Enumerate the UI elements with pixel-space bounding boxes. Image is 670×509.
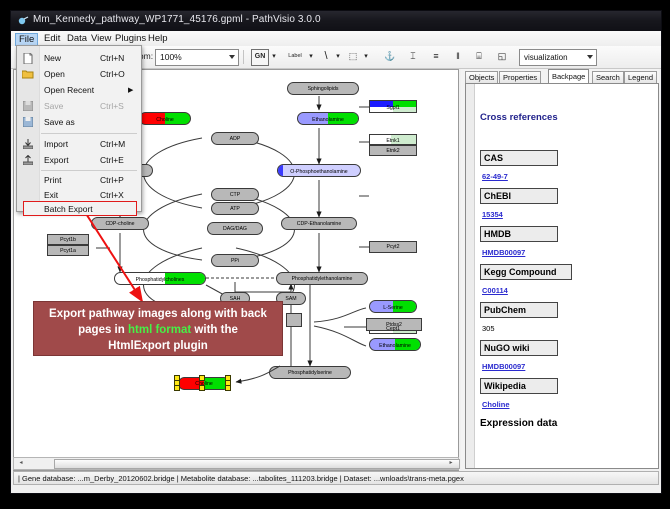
section-title: ChEBI <box>484 191 511 201</box>
gene-sgpl1[interactable]: Sgpl1 <box>369 100 417 113</box>
node-cdp-choline[interactable]: CDP-choline <box>91 217 149 230</box>
scroll-right-arrow[interactable]: ▸ <box>445 459 457 467</box>
tab-properties[interactable]: Properties <box>499 71 541 83</box>
menu-item-label: Save <box>44 101 63 111</box>
shape-dropdown-icon[interactable]: ▾ <box>362 49 370 64</box>
file-menu-item-import[interactable]: Import Ctrl+M <box>18 136 140 152</box>
anchor-tool[interactable]: ⚓ <box>383 49 397 64</box>
gene-label: Etnk2 <box>386 148 399 154</box>
section-nugo: NuGO wiki <box>480 340 558 356</box>
order-tool[interactable]: ◱ <box>495 49 509 64</box>
node-label: ADP <box>230 136 241 142</box>
node-label: Sphingolipids <box>308 86 339 92</box>
datanode-dropdown-icon[interactable]: ▾ <box>270 49 278 64</box>
file-menu-item-new[interactable]: New Ctrl+N <box>18 50 140 66</box>
gene-label: Ptdss2 <box>386 322 402 328</box>
menu-item-shortcut: Ctrl+E <box>100 155 124 165</box>
line-dropdown-icon[interactable]: ▾ <box>334 49 342 64</box>
node-choline[interactable]: Choline <box>139 112 191 125</box>
callout-annotation: Export pathway images along with back pa… <box>33 301 283 356</box>
section-title: Wikipedia <box>484 381 526 391</box>
common-size-tool[interactable]: ⌸ <box>472 49 486 64</box>
pathvisio-icon <box>17 15 29 27</box>
side-panel-tabs: Objects Properties Backpage Search Legen… <box>465 69 659 83</box>
menu-item-label: Import <box>44 139 68 149</box>
value-pubchem: 305 <box>482 324 495 333</box>
expression-data-heading: Expression data <box>480 418 557 429</box>
node-label: CDP-choline <box>105 221 134 227</box>
file-menu-item-print[interactable]: Print Ctrl+P <box>18 172 140 188</box>
pemt-shape <box>286 313 302 327</box>
screenshot-root: Mm_Kennedy_pathway_WP1771_45176.gpml - P… <box>0 0 670 509</box>
gene-pcyt1b[interactable]: Pcyt1b <box>47 234 89 245</box>
node-atp[interactable]: ATP <box>211 202 259 215</box>
callout-line-2-green: html format <box>128 324 191 336</box>
section-kegg: Kegg Compound <box>480 264 572 280</box>
menu-item-shortcut: Ctrl+S <box>100 101 124 111</box>
scroll-left-arrow[interactable]: ◂ <box>15 459 27 467</box>
datanode-tool[interactable]: GN <box>251 49 269 66</box>
callout-line-1: Export pathway images along with back <box>49 308 267 320</box>
menu-item-shortcut: Ctrl+N <box>100 53 124 63</box>
resize-handle[interactable] <box>199 375 205 381</box>
file-menu-item-open-recent[interactable]: Open Recent ▶ <box>18 82 140 98</box>
align-stack-tool[interactable]: ≡ <box>429 49 443 64</box>
gene-pcyt2[interactable]: Pcyt2 <box>369 241 417 253</box>
menu-item-shortcut: Ctrl+M <box>100 139 125 149</box>
node-o-phosphoethanolamine[interactable]: O-Phosphoethanolamine <box>277 164 361 177</box>
file-menu-dropdown: New Ctrl+N Open Ctrl+O Open Recent ▶ Sav… <box>16 45 142 212</box>
node-label: ATP <box>230 206 240 212</box>
label-tool[interactable]: Label <box>283 49 307 64</box>
menu-separator <box>41 133 137 134</box>
resize-handle[interactable] <box>174 385 180 391</box>
node-ethanolamine-bottom[interactable]: Ethanolamine <box>369 338 421 351</box>
tab-search[interactable]: Search <box>592 71 624 83</box>
menu-item-label: Open <box>44 69 65 79</box>
zoom-combobox[interactable]: 100% <box>155 49 239 66</box>
import-icon <box>23 139 33 149</box>
align-left-tool[interactable]: ⌶ <box>406 49 420 64</box>
menu-item-shortcut: Ctrl+O <box>100 69 125 79</box>
node-phosphatidylcholines[interactable]: Phosphatidylcholines <box>114 272 206 285</box>
link-kegg[interactable]: C00114 <box>482 286 508 295</box>
file-menu-item-batch-export[interactable]: Batch Export <box>23 201 137 216</box>
save-as-icon <box>23 117 33 127</box>
node-choline-selected[interactable]: Choline <box>174 375 232 389</box>
callout-line-3: HtmlExport plugin <box>108 340 208 352</box>
node-label: CDP-Ethanolamine <box>297 221 341 227</box>
file-menu-item-export[interactable]: Export Ctrl+E <box>18 152 140 168</box>
tab-objects[interactable]: Objects <box>465 71 498 83</box>
node-label: Phosphatidylethanolamine <box>292 276 353 282</box>
menu-item-label: Export <box>44 155 69 165</box>
section-hmdb: HMDB <box>480 226 558 242</box>
gene-etnk2[interactable]: Etnk2 <box>369 145 417 156</box>
menu-item-shortcut: Ctrl+X <box>100 190 124 200</box>
distribute-tool[interactable]: ‖ <box>451 49 465 64</box>
chevron-down-icon <box>229 55 235 59</box>
file-menu-item-save: Save Ctrl+S <box>18 98 140 114</box>
section-title: NuGO wiki <box>484 343 530 353</box>
label-dropdown-icon[interactable]: ▾ <box>307 49 315 64</box>
toolbar-separator <box>243 50 244 64</box>
node-label: PPi <box>231 258 239 264</box>
menu-item-label: Exit <box>44 190 58 200</box>
new-file-icon <box>23 53 33 64</box>
menu-item-label: Batch Export <box>44 204 93 214</box>
link-hmdb[interactable]: HMDB00097 <box>482 248 525 257</box>
save-icon <box>23 101 33 111</box>
section-pubchem: PubChem <box>480 302 558 318</box>
chevron-down-icon <box>587 55 593 59</box>
node-label: O-Phosphoethanolamine <box>278 169 360 175</box>
resize-handle[interactable] <box>225 385 231 391</box>
link-chebi[interactable]: 15354 <box>482 210 503 219</box>
node-phosphatidylserine[interactable]: Phosphatidylserine <box>269 366 351 379</box>
pathvisio-window: Mm_Kennedy_pathway_WP1771_45176.gpml - P… <box>10 10 662 494</box>
gene-label: Pcyt2 <box>387 244 400 250</box>
menu-item-label: New <box>44 53 61 63</box>
menu-item-shortcut: Ctrl+P <box>100 175 124 185</box>
node-sphingolipids[interactable]: Sphingolipids <box>287 82 359 95</box>
menu-item-label: Save as <box>44 117 75 127</box>
menu-item-label: Print <box>44 175 61 185</box>
node-phosphatidylethanolamine[interactable]: Phosphatidylethanolamine <box>276 272 368 285</box>
title-bar: Mm_Kennedy_pathway_WP1771_45176.gpml - P… <box>11 11 661 32</box>
node-label: CTP <box>230 192 240 198</box>
section-title: PubChem <box>484 305 526 315</box>
link-cas[interactable]: 62-49-7 <box>482 172 508 181</box>
node-adp[interactable]: ADP <box>211 132 259 145</box>
node-label: DAG/DAG <box>223 226 247 232</box>
visualization-value: visualization <box>524 53 568 62</box>
node-ethanolamine-top[interactable]: Ethanolamine <box>297 112 359 125</box>
side-panel: Objects Properties Backpage Search Legen… <box>461 69 659 469</box>
backpage-scrollbar[interactable] <box>466 84 475 468</box>
callout-line-2b: with the <box>191 324 238 336</box>
callout-line-2a: pages in <box>78 324 128 336</box>
folder-open-icon <box>22 70 34 79</box>
gene-label: Pcyt1a <box>60 248 76 254</box>
section-title: Kegg Compound <box>484 267 557 277</box>
link-nugo[interactable]: HMDB00097 <box>482 362 525 371</box>
node-l-serine[interactable]: L-Serine <box>369 300 417 313</box>
node-label: SAM <box>285 296 296 302</box>
resize-handle[interactable] <box>199 385 205 391</box>
tab-legend[interactable]: Legend <box>624 71 657 83</box>
section-wikipedia: Wikipedia <box>480 378 558 394</box>
menu-separator <box>41 170 137 171</box>
gene-label: Pcyt1b <box>60 237 76 243</box>
gene-etnk1[interactable]: Etnk1 <box>369 134 417 145</box>
file-menu-item-open[interactable]: Open Ctrl+O <box>18 66 140 82</box>
scroll-thumb[interactable] <box>54 459 460 469</box>
file-menu-item-save-as[interactable]: Save as <box>18 114 140 130</box>
node-cdp-ethanolamine[interactable]: CDP-Ethanolamine <box>281 217 357 230</box>
backpage-content[interactable]: Cross references CAS 62-49-7 ChEBI 15354… <box>465 83 659 469</box>
node-dag[interactable]: DAG/DAG <box>207 222 263 235</box>
window-title: Mm_Kennedy_pathway_WP1771_45176.gpml - P… <box>33 14 321 25</box>
node-label: Phosphatidylserine <box>288 370 332 376</box>
node-ctp[interactable]: CTP <box>211 188 259 201</box>
section-chebi: ChEBI <box>480 188 558 204</box>
section-title: HMDB <box>484 229 511 239</box>
export-icon <box>23 155 33 165</box>
gene-ptdss2[interactable]: Ptdss2 <box>366 318 422 331</box>
menu-item-label: Open Recent <box>44 85 94 95</box>
zoom-value: 100% <box>160 52 182 62</box>
gene-pcyt1a[interactable]: Pcyt1a <box>47 245 89 256</box>
status-bar: | Gene database: ...m_Derby_20120602.bri… <box>13 471 659 485</box>
section-cas: CAS <box>480 150 558 166</box>
cross-references-heading: Cross references <box>480 112 558 123</box>
line-tool[interactable]: \ <box>319 49 333 64</box>
menu-edit[interactable]: Edit <box>40 33 64 45</box>
tab-backpage[interactable]: Backpage <box>548 69 589 83</box>
visualization-combobox[interactable]: visualization <box>519 49 597 66</box>
submenu-arrow-icon: ▶ <box>128 86 133 94</box>
node-ppi[interactable]: PPi <box>211 254 259 267</box>
shape-tool[interactable]: ⬚ <box>346 49 360 64</box>
menu-help[interactable]: Help <box>144 33 172 45</box>
section-title: CAS <box>484 153 503 163</box>
link-wikipedia[interactable]: Choline <box>482 400 510 409</box>
canvas-hscrollbar[interactable]: ◂ ▸ <box>13 457 459 470</box>
